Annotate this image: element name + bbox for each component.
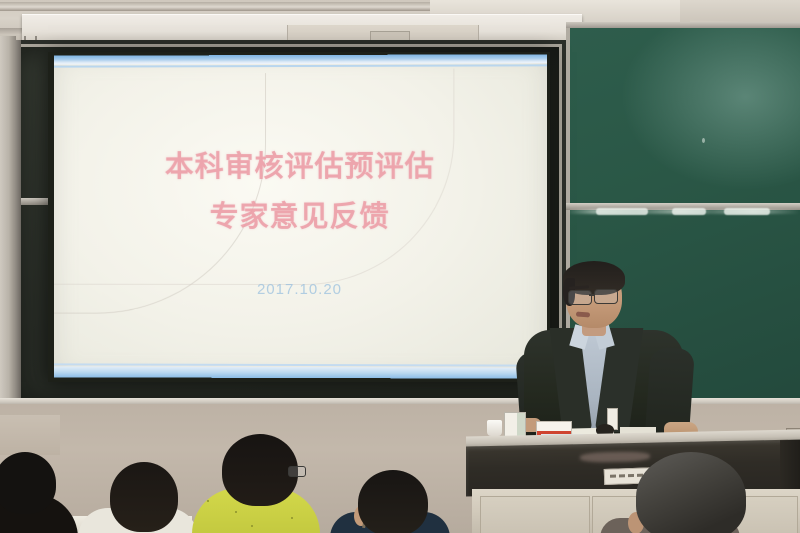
slide-bottom-band <box>54 366 547 378</box>
slide-title-line-2: 专家意见反馈 <box>54 193 547 235</box>
chalk-mark <box>672 208 706 215</box>
chalk-speck <box>702 138 705 143</box>
chalk-mark <box>724 208 770 215</box>
left-door-jamb-inner <box>14 40 21 412</box>
lecture-hall-photo: 本科审核评估预评估 专家意见反馈 2017.10.20 <box>0 0 800 533</box>
glasses-icon <box>288 466 306 477</box>
audience-head <box>636 452 746 533</box>
glasses-icon-left-lens <box>568 290 592 305</box>
projected-slide: 本科审核评估预评估 专家意见反馈 2017.10.20 <box>54 54 547 378</box>
podium-right-edge <box>780 440 800 495</box>
paper-cup <box>487 420 502 436</box>
slide-top-band <box>54 54 547 64</box>
glasses-icon-right-lens <box>594 289 618 304</box>
audience-head <box>0 452 56 514</box>
podium-door-left[interactable] <box>480 496 590 533</box>
slide-title-line-1: 本科审核评估预评估 <box>54 143 547 185</box>
chalk-mark <box>596 208 648 215</box>
floor-strip <box>0 415 60 455</box>
audience-head <box>110 462 178 532</box>
audience-head <box>358 470 428 533</box>
slide-top-line <box>54 64 547 67</box>
slide-date: 2017.10.20 <box>54 281 547 299</box>
presenter-mouth <box>576 312 590 318</box>
audience-head <box>222 434 298 506</box>
tissue-box <box>504 412 526 438</box>
glasses-icon-bridge <box>589 294 595 296</box>
